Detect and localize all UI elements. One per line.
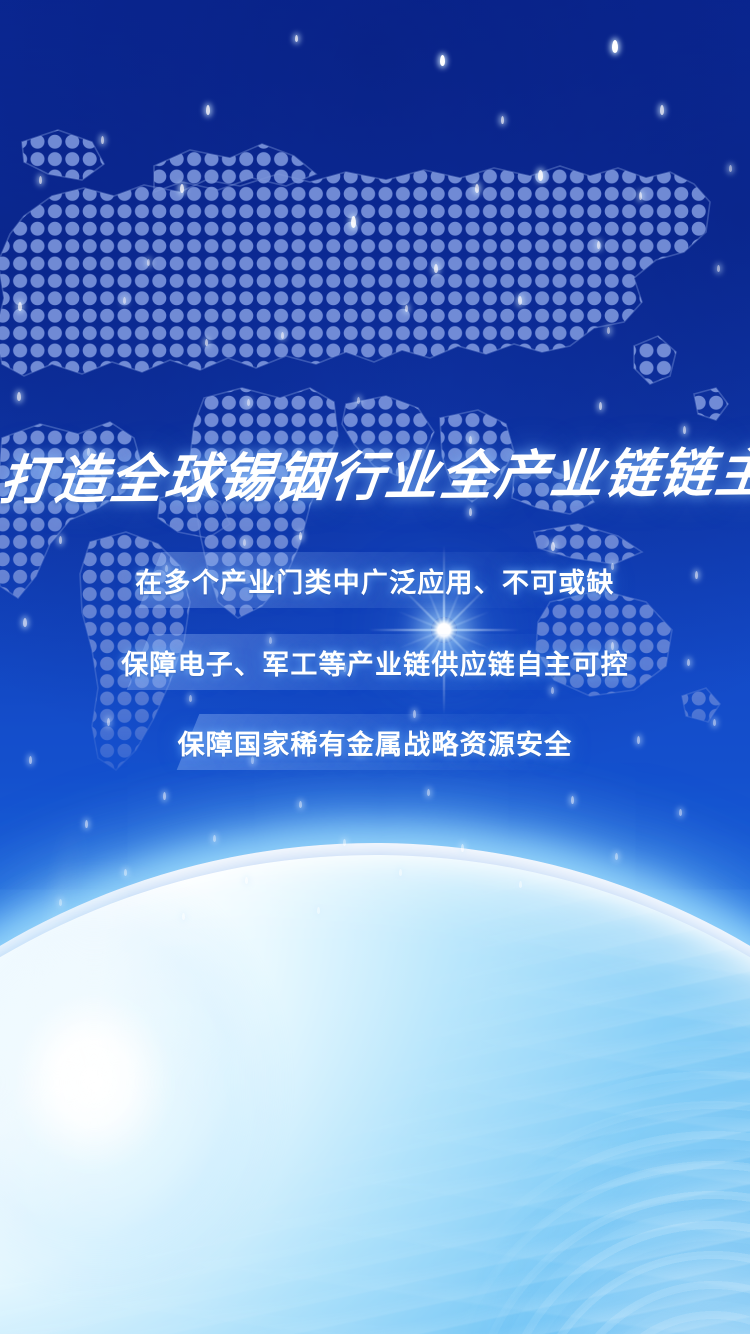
subtitle-text-1: 在多个产业门类中广泛应用、不可或缺 bbox=[0, 561, 750, 600]
subtitle-text-3: 保障国家稀有金属战略资源安全 bbox=[0, 723, 750, 762]
subtitle-row-2: 保障电子、军工等产业链供应链自主可控 bbox=[0, 634, 750, 690]
poster-canvas: 打造全球锡铟行业全产业链链主 在多个产业门类中广泛应用、不可或缺 保障电子、军工… bbox=[0, 0, 750, 1334]
subtitle-row-1: 在多个产业门类中广泛应用、不可或缺 bbox=[0, 552, 750, 608]
page-title: 打造全球锡铟行业全产业链链主 bbox=[0, 446, 750, 511]
earth-cloud-texture bbox=[0, 855, 750, 1334]
subtitle-row-3: 保障国家稀有金属战略资源安全 bbox=[0, 714, 750, 770]
subtitle-text-2: 保障电子、军工等产业链供应链自主可控 bbox=[0, 643, 750, 682]
